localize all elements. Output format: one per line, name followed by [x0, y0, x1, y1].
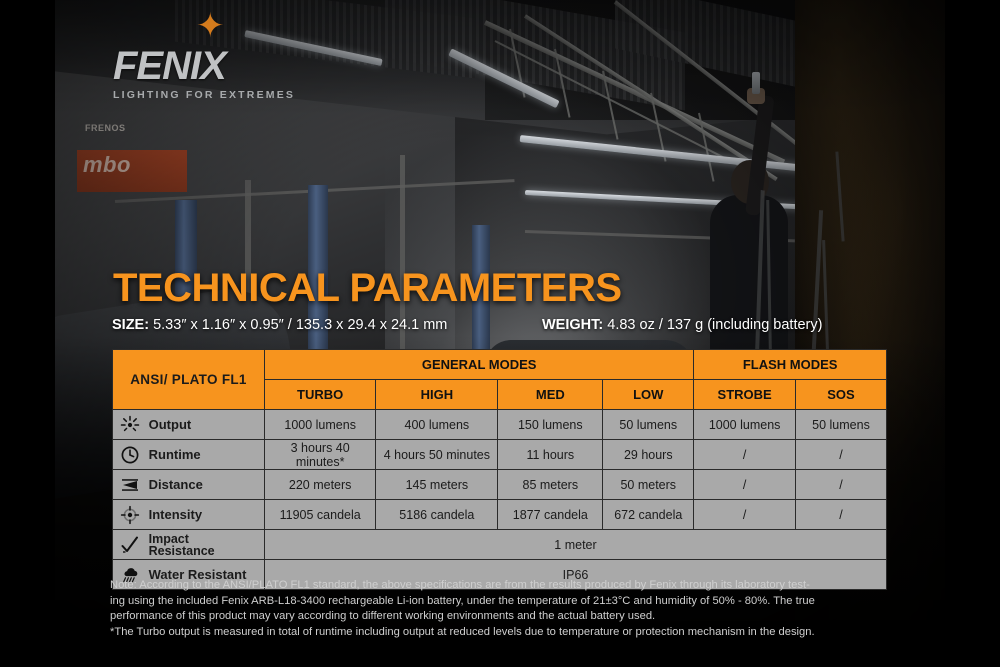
footnote-block: Note: According to the ANSI/PLATO FL1 st…: [110, 578, 900, 640]
technical-parameters-table: ANSI/ PLATO FL1 GENERAL MODES FLASH MODE…: [112, 349, 887, 590]
photo-banner-text-top: FRENOS: [85, 123, 126, 133]
row-label-text: Distance: [149, 477, 203, 492]
product-spec-banner: FRENOS mbo: [0, 0, 1000, 667]
photo-banner-text-main: mbo: [83, 152, 131, 178]
table-row: ImpactResistance 1 meter: [113, 530, 887, 560]
cell-runtime-sos: /: [795, 440, 886, 470]
footnote-line-1: Note: According to the ANSI/PLATO FL1 st…: [110, 578, 900, 594]
cell-output-med: 150 lumens: [498, 410, 603, 440]
cell-output-turbo: 1000 lumens: [265, 410, 376, 440]
cell-distance-sos: /: [795, 470, 886, 500]
row-label-impact-resistance: ImpactResistance: [113, 530, 265, 560]
cell-output-high: 400 lumens: [376, 410, 498, 440]
fenix-logo: ✦ FENIX LIGHTING FOR EXTREMES: [113, 46, 295, 101]
table-group-flash-modes: FLASH MODES: [694, 350, 887, 380]
cell-runtime-med: 11 hours: [498, 440, 603, 470]
cell-distance-strobe: /: [694, 470, 796, 500]
row-label-output: Output: [113, 410, 265, 440]
checkmark-impact-icon: [120, 535, 140, 555]
cell-intensity-low: 672 candela: [603, 500, 694, 530]
cell-distance-med: 85 meters: [498, 470, 603, 500]
row-label-text: Intensity: [149, 507, 202, 522]
cell-distance-high: 145 meters: [376, 470, 498, 500]
table-row: Output 1000 lumens 400 lumens 150 lumens…: [113, 410, 887, 440]
table-header-turbo: TURBO: [265, 380, 376, 410]
cell-distance-turbo: 220 meters: [265, 470, 376, 500]
table-header-sos: SOS: [795, 380, 886, 410]
cell-impact-resistance-value: 1 meter: [265, 530, 887, 560]
footnote-line-2: ing using the included Fenix ARB-L18-340…: [110, 594, 900, 610]
letterbox-bottom: [0, 645, 1000, 667]
footnote-line-4: *The Turbo output is measured in total o…: [110, 625, 900, 641]
footnote-line-3: performance of this product may vary acc…: [110, 609, 900, 625]
table-row: Intensity 11905 candela 5186 candela 187…: [113, 500, 887, 530]
row-label-intensity: Intensity: [113, 500, 265, 530]
table-group-general-modes: GENERAL MODES: [265, 350, 694, 380]
cell-intensity-high: 5186 candela: [376, 500, 498, 530]
letterbox-right: [945, 0, 1000, 667]
weight-label: WEIGHT:: [542, 317, 603, 333]
row-label-distance: Distance: [113, 470, 265, 500]
light-burst-icon: [120, 415, 140, 435]
cell-output-sos: 50 lumens: [795, 410, 886, 440]
fenix-logo-wordmark: FENIX: [113, 46, 295, 86]
cell-distance-low: 50 meters: [603, 470, 694, 500]
cell-runtime-high: 4 hours 50 minutes: [376, 440, 498, 470]
table-row: Distance 220 meters 145 meters 85 meters…: [113, 470, 887, 500]
table-row: Runtime 3 hours 40 minutes* 4 hours 50 m…: [113, 440, 887, 470]
row-label-runtime: Runtime: [113, 440, 265, 470]
row-label-text: Runtime: [149, 447, 201, 462]
weight-spec: WEIGHT: 4.83 oz / 137 g (including batte…: [542, 317, 822, 333]
fenix-logo-tagline: LIGHTING FOR EXTREMES: [113, 89, 295, 101]
cell-intensity-med: 1877 candela: [498, 500, 603, 530]
cell-runtime-low: 29 hours: [603, 440, 694, 470]
row-label-text: Output: [149, 417, 192, 432]
table-group-header-row: ANSI/ PLATO FL1 GENERAL MODES FLASH MODE…: [113, 350, 887, 380]
cell-runtime-strobe: /: [694, 440, 796, 470]
size-spec: SIZE: 5.33″ x 1.16″ x 0.95″ / 135.3 x 29…: [112, 317, 542, 333]
size-weight-line: SIZE: 5.33″ x 1.16″ x 0.95″ / 135.3 x 29…: [112, 317, 902, 333]
cell-intensity-turbo: 11905 candela: [265, 500, 376, 530]
impact-label-line2: Resistance: [149, 544, 215, 558]
clock-icon: [120, 445, 140, 465]
size-label: SIZE:: [112, 317, 149, 333]
row-label-text: ImpactResistance: [149, 533, 215, 557]
cell-output-strobe: 1000 lumens: [694, 410, 796, 440]
table-header-strobe: STROBE: [694, 380, 796, 410]
weight-value: 4.83 oz / 137 g (including battery): [607, 317, 822, 333]
letterbox-left: [0, 0, 55, 667]
cell-intensity-strobe: /: [694, 500, 796, 530]
size-value: 5.33″ x 1.16″ x 0.95″ / 135.3 x 29.4 x 2…: [153, 317, 447, 333]
cell-intensity-sos: /: [795, 500, 886, 530]
table-corner-label: ANSI/ PLATO FL1: [113, 350, 265, 410]
target-intensity-icon: [120, 505, 140, 525]
cell-runtime-turbo: 3 hours 40 minutes*: [265, 440, 376, 470]
table-header-high: HIGH: [376, 380, 498, 410]
beam-distance-icon: [120, 475, 140, 495]
photo-flashlight: [752, 72, 760, 94]
cell-output-low: 50 lumens: [603, 410, 694, 440]
table-header-med: MED: [498, 380, 603, 410]
page-title: TECHNICAL PARAMETERS: [113, 266, 622, 311]
table-header-low: LOW: [603, 380, 694, 410]
